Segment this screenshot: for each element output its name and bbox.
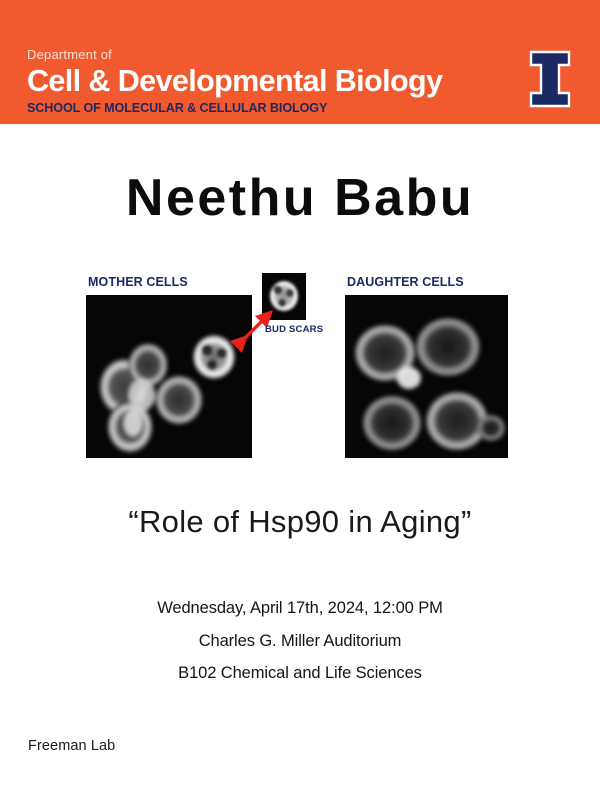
mother-cells-micrograph: 5 µm: [86, 295, 252, 458]
header-band: Department of Cell & Developmental Biolo…: [0, 0, 600, 124]
event-venue: Charles G. Miller Auditorium: [0, 633, 600, 650]
daughter-cells-micrograph: [345, 295, 508, 458]
event-datetime: Wednesday, April 17th, 2024, 12:00 PM: [0, 600, 600, 617]
block-i-logo-icon: [528, 50, 572, 108]
microscopy-figure: MOTHER CELLS DAUGHTER CELLS: [0, 262, 600, 467]
talk-title: “Role of Hsp90 in Aging”: [0, 505, 600, 539]
header-text-block: Department of Cell & Developmental Biolo…: [27, 48, 442, 115]
department-name: Cell & Developmental Biology: [27, 65, 442, 97]
daughter-cells-label: DAUGHTER CELLS: [347, 275, 464, 289]
event-details: Wednesday, April 17th, 2024, 12:00 PM Ch…: [0, 600, 600, 698]
event-room: B102 Chemical and Life Sciences: [0, 665, 600, 682]
footer-lab-name: Freeman Lab: [28, 738, 115, 754]
bud-scars-label: BUD SCARS: [265, 324, 323, 335]
speaker-name: Neethu Babu: [0, 172, 600, 224]
school-name: SCHOOL OF MOLECULAR & CELLULAR BIOLOGY: [27, 101, 442, 115]
mother-cells-label: MOTHER CELLS: [88, 275, 188, 289]
department-eyebrow: Department of: [27, 48, 442, 62]
